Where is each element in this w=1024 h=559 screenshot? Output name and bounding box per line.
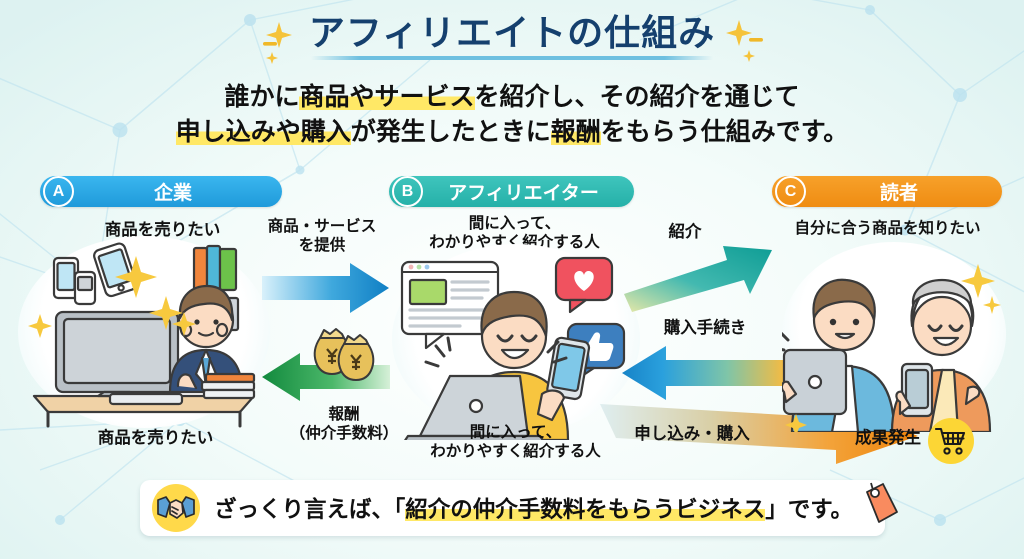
caption-affiliate-bottom: 間に入って、 わかりやすく紹介する人 xyxy=(408,424,623,462)
caption-arrow-supply-line2: を提供 xyxy=(258,237,386,256)
page-title: アフィリエイトの仕組み xyxy=(309,12,715,53)
caption-arrow-reward-line1: 報酬 xyxy=(280,406,408,425)
caption-arrow-reward-line2: （仲介手数料） xyxy=(280,425,408,444)
arrow-introduce-up-right xyxy=(624,236,776,316)
footer-banner: ざっくり言えば、「紹介の仲介手数料をもらうビジネス」です。 xyxy=(140,480,885,536)
badge-reader[interactable]: C 読者 xyxy=(772,176,1002,207)
money-bag-yen-icon xyxy=(306,320,378,382)
title-block: アフィリエイトの仕組み xyxy=(0,14,1024,58)
arrow-supply-right xyxy=(262,262,390,316)
subtitle-line-2: 申し込みや購入が発生したときに報酬をもらう仕組みです。 xyxy=(0,115,1024,150)
price-tag-icon xyxy=(861,482,901,530)
subtitle-line-1: 誰かに商品やサービスを紹介し、その紹介を通じて xyxy=(0,80,1024,115)
subtitle-2-highlight-1: 申し込みや購入 xyxy=(176,118,351,146)
footer-text-highlight: 紹介の仲介手数料をもらうビジネス xyxy=(405,497,765,522)
shopping-cart-icon xyxy=(935,426,967,456)
caption-arrow-reward: 報酬 （仲介手数料） xyxy=(280,406,408,444)
badge-affiliate[interactable]: B アフィリエイター xyxy=(389,176,634,207)
subtitle-2-mid: が発生したときに xyxy=(351,118,551,146)
footer-text-pre: ざっくり言えば、「 xyxy=(214,497,405,522)
caption-arrow-apply: 申し込み・購入 xyxy=(612,424,772,444)
footer-text: ざっくり言えば、「紹介の仲介手数料をもらうビジネス」です。 xyxy=(214,492,853,524)
badge-letter-b: B xyxy=(392,176,423,207)
badge-label-reader: 読者 xyxy=(806,178,1002,205)
badge-letter-c: C xyxy=(775,176,806,207)
caption-reader-bottom: 成果発生 xyxy=(838,428,938,448)
subtitle-1-post: を紹介し、その紹介を通じて xyxy=(475,83,800,111)
caption-affiliate-top-line1: 間に入って、 xyxy=(412,215,617,234)
handshake-icon xyxy=(157,493,195,523)
page-title-container: アフィリエイトの仕組み xyxy=(303,14,721,58)
caption-arrow-purchase: 購入手続き xyxy=(640,318,770,338)
caption-reader-top: 自分に合う商品を知りたい xyxy=(770,220,1005,239)
illustration-businessman-at-desk xyxy=(18,236,270,432)
arrow-purchase-left xyxy=(620,344,784,402)
caption-company-bottom: 商品を売りたい xyxy=(58,428,253,448)
subtitle-block: 誰かに商品やサービスを紹介し、その紹介を通じて 申し込みや購入が発生したときに報… xyxy=(0,80,1024,149)
sparkle-icon xyxy=(263,20,299,64)
infographic-canvas: アフィリエイトの仕組み 誰かに商品やサービスを紹介し、その紹介を通じて 申し込み… xyxy=(0,0,1024,559)
badge-company[interactable]: A 企業 xyxy=(40,176,282,207)
subtitle-1-highlight: 商品やサービス xyxy=(299,83,474,111)
caption-arrow-supply: 商品・サービス を提供 xyxy=(258,218,386,256)
subtitle-1-pre: 誰かに xyxy=(224,83,299,111)
sparkle-icon-right xyxy=(725,18,763,64)
caption-affiliate-bottom-line2: わかりやすく紹介する人 xyxy=(408,443,623,462)
subtitle-2-post: をもらう仕組みです。 xyxy=(601,118,849,146)
caption-affiliate-bottom-line1: 間に入って、 xyxy=(408,424,623,443)
badge-label-company: 企業 xyxy=(74,178,282,205)
caption-arrow-supply-line1: 商品・サービス xyxy=(258,218,386,237)
badge-label-affiliate: アフィリエイター xyxy=(423,178,634,205)
subtitle-2-highlight-2: 報酬 xyxy=(551,118,601,146)
illustration-two-readers xyxy=(782,242,1006,432)
footer-text-post: 」です。 xyxy=(765,497,853,522)
title-underline xyxy=(311,56,713,60)
shopping-cart-badge xyxy=(928,418,974,464)
badge-letter-a: A xyxy=(43,176,74,207)
handshake-badge xyxy=(152,484,200,532)
